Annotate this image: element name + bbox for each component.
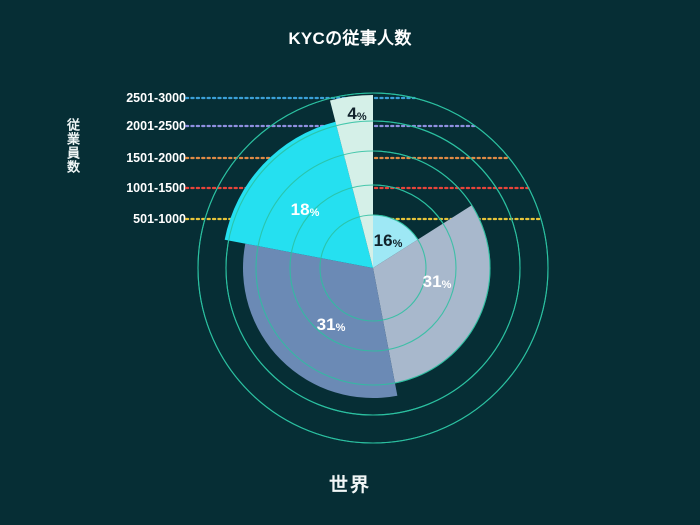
- chart-canvas: KYCの従事人数 従業員数 2501-30002001-25001501-200…: [0, 0, 700, 525]
- rose-chart-plot: 16%31%31%18%4%: [0, 0, 700, 525]
- bottom-axis-label: 世界: [0, 470, 700, 497]
- pie-slices-group: [198, 93, 548, 443]
